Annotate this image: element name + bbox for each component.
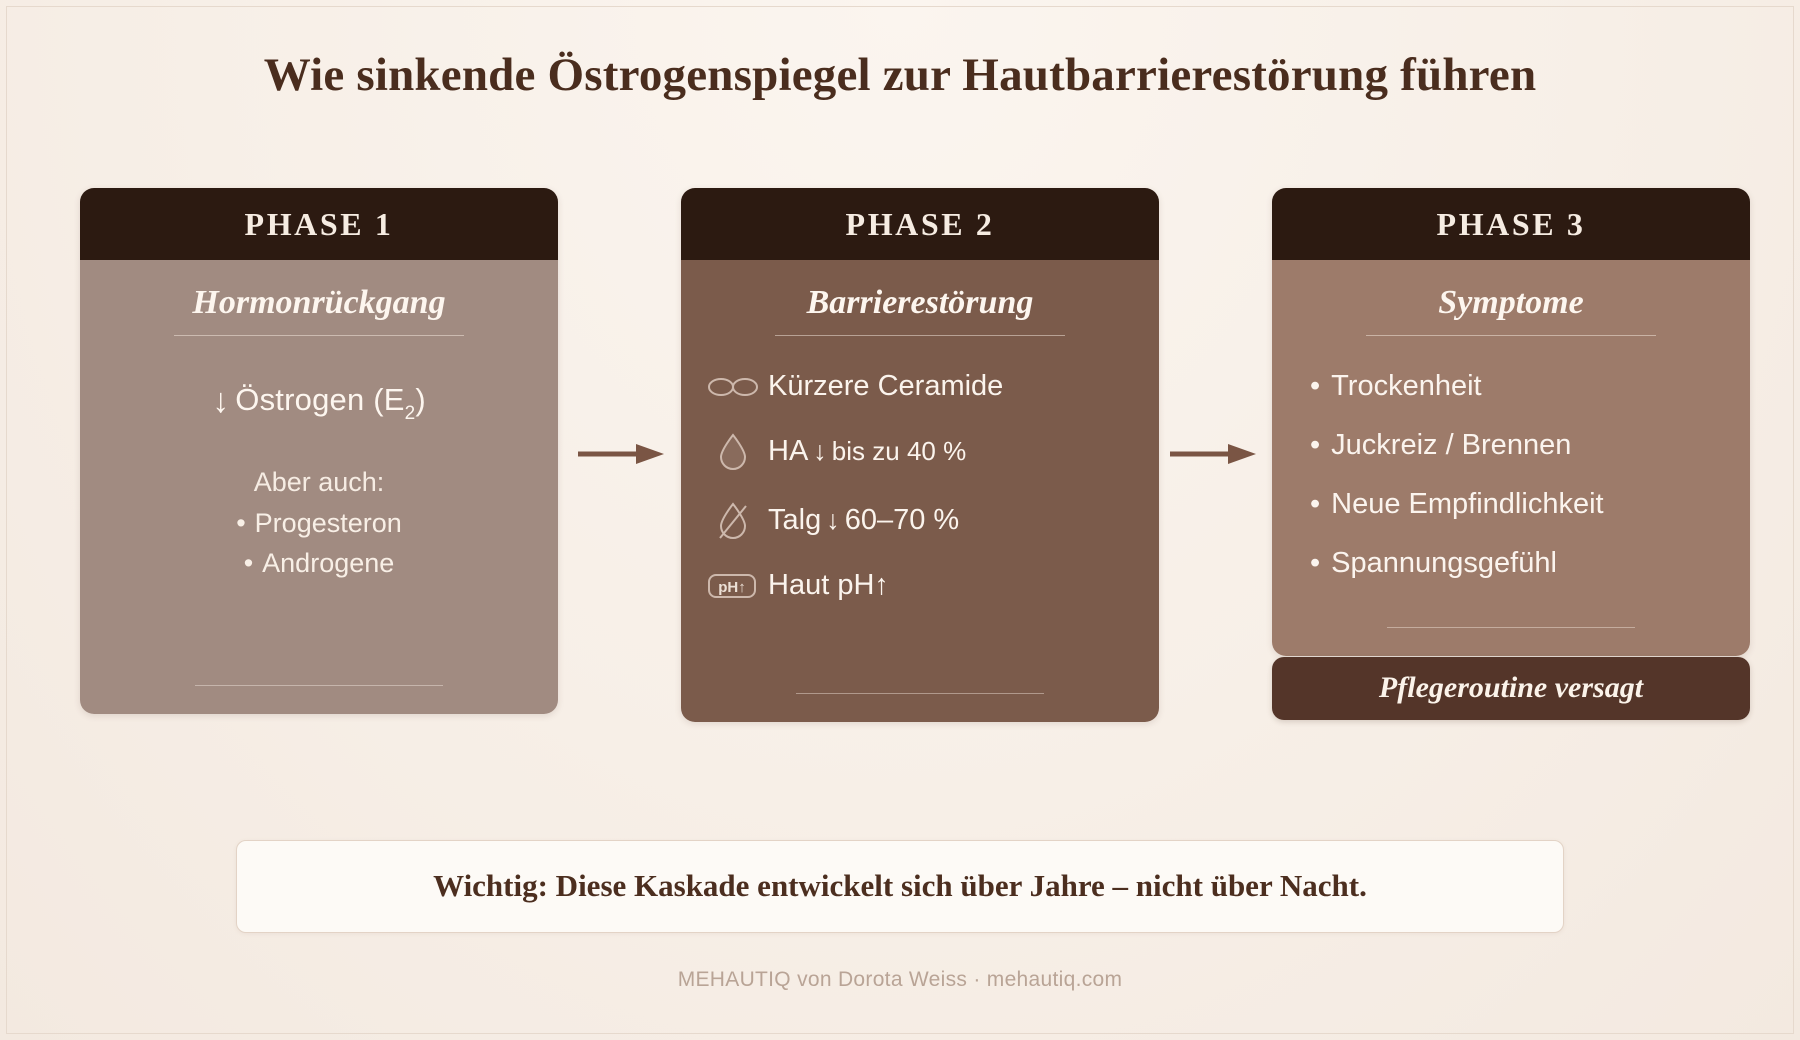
bullet-icon: •: [1310, 488, 1320, 520]
phase-2-header: PHASE 2: [681, 188, 1159, 260]
list-item: •Androgene: [106, 548, 532, 579]
flow-arrow-1: [578, 443, 664, 465]
bullet-icon: •: [244, 548, 253, 578]
list-item: •Neue Empfindlichkeit: [1310, 488, 1724, 521]
ceramide-ellipses-icon: [707, 374, 759, 400]
water-drop-icon: [707, 431, 759, 471]
phase-1-subtitle: Hormonrückgang: [106, 284, 532, 322]
phase-2-row-label: Talg: [768, 504, 821, 537]
phase-1-body: Hormonrückgang ↓Östrogen (E2) Aber auch:…: [80, 260, 558, 714]
phase-card-1-inner: PHASE 1 Hormonrückgang ↓Östrogen (E2) Ab…: [80, 188, 558, 714]
phase-2-subtitle-rule: [775, 335, 1065, 336]
attribution-footer: MEHAUTIQ von Dorota Weiss · mehautiq.com: [0, 968, 1800, 992]
phase-1-main-label: Östrogen (E: [235, 382, 404, 417]
phase-card-3-inner: PHASE 3 Symptome •Trockenheit •Juckreiz …: [1272, 188, 1750, 656]
list-item: •Trockenheit: [1310, 370, 1724, 403]
phase-card-2: PHASE 2 Barrierestörung Kürz: [681, 188, 1159, 722]
phase-card-2-inner: PHASE 2 Barrierestörung Kürz: [681, 188, 1159, 722]
important-note: Wichtig: Diese Kaskade entwickelt sich ü…: [236, 840, 1564, 933]
phase-2-rows: Kürzere Ceramide HA ↓ bis zu 40 %: [707, 370, 1133, 602]
phase-2-body: Barrierestörung Kürzere Ceramide: [681, 260, 1159, 722]
phase-2-row-label: HA: [768, 435, 808, 468]
phase-3-list: •Trockenheit •Juckreiz / Brennen •Neue E…: [1310, 370, 1724, 580]
bullet-icon: •: [1310, 370, 1320, 402]
arrow-down-icon: ↓: [212, 382, 229, 420]
list-item-label: Trockenheit: [1331, 370, 1481, 402]
phase-3-fail-bar: Pflegeroutine versagt: [1272, 657, 1750, 720]
list-item-label: Neue Empfindlichkeit: [1331, 488, 1603, 520]
phase-1-main-suffix: ): [415, 382, 426, 417]
phase-3-subtitle: Symptome: [1298, 284, 1724, 322]
phase-2-row-sebum: Talg ↓ 60–70 %: [707, 499, 1133, 541]
phase-card-1: PHASE 1 Hormonrückgang ↓Östrogen (E2) Ab…: [80, 188, 558, 714]
arrow-right-icon: [578, 443, 664, 465]
svg-text:pH↑: pH↑: [718, 579, 746, 596]
arrow-right-icon: [1170, 443, 1256, 465]
bullet-icon: •: [1310, 547, 1320, 579]
list-item: •Progesteron: [106, 508, 532, 539]
phase-2-row-ph: pH↑ Haut pH↑: [707, 569, 1133, 602]
phase-2-row-ha: HA ↓ bis zu 40 %: [707, 431, 1133, 471]
ph-badge-icon: pH↑: [707, 571, 759, 601]
arrow-down-icon: ↓: [813, 436, 827, 467]
phase-1-main-metric: ↓Östrogen (E2): [106, 382, 532, 425]
phase-1-also-label: Aber auch:: [106, 467, 532, 498]
list-item-label: Juckreiz / Brennen: [1331, 429, 1571, 461]
list-item-label: Spannungsgefühl: [1331, 547, 1557, 579]
page-title: Wie sinkende Östrogenspiegel zur Hautbar…: [0, 48, 1800, 102]
phase-1-header: PHASE 1: [80, 188, 558, 260]
phase-1-main-subscript: 2: [405, 403, 416, 424]
phase-2-row-label: Haut pH↑: [768, 569, 889, 602]
phase-1-bottom-rule: [195, 685, 443, 686]
sebum-drop-slash-icon: [707, 499, 759, 541]
bullet-icon: •: [1310, 429, 1320, 461]
list-item: •Juckreiz / Brennen: [1310, 429, 1724, 462]
phase-2-bottom-rule: [796, 693, 1044, 694]
phase-card-3: PHASE 3 Symptome •Trockenheit •Juckreiz …: [1272, 188, 1750, 656]
list-item-label: Androgene: [262, 548, 394, 578]
arrow-down-icon: ↓: [826, 505, 840, 536]
flow-arrow-2: [1170, 443, 1256, 465]
phase-2-subtitle: Barrierestörung: [707, 284, 1133, 322]
phase-2-row-value: bis zu 40 %: [832, 436, 966, 467]
phase-2-row-value: 60–70 %: [845, 504, 960, 537]
phase-2-row-ceramide: Kürzere Ceramide: [707, 370, 1133, 403]
phase-3-bottom-rule: [1387, 627, 1635, 628]
phase-2-row-label: Kürzere Ceramide: [768, 370, 1003, 403]
list-item: •Spannungsgefühl: [1310, 547, 1724, 580]
infographic-canvas: Wie sinkende Östrogenspiegel zur Hautbar…: [0, 0, 1800, 1040]
phase-3-header: PHASE 3: [1272, 188, 1750, 260]
bullet-icon: •: [236, 508, 245, 538]
phase-3-body: Symptome •Trockenheit •Juckreiz / Brenne…: [1272, 260, 1750, 656]
phase-3-subtitle-rule: [1366, 335, 1656, 336]
list-item-label: Progesteron: [255, 508, 402, 538]
phase-1-list: •Progesteron •Androgene: [106, 508, 532, 579]
phase-1-subtitle-rule: [174, 335, 464, 336]
phase-flow: PHASE 1 Hormonrückgang ↓Östrogen (E2) Ab…: [80, 188, 1720, 788]
